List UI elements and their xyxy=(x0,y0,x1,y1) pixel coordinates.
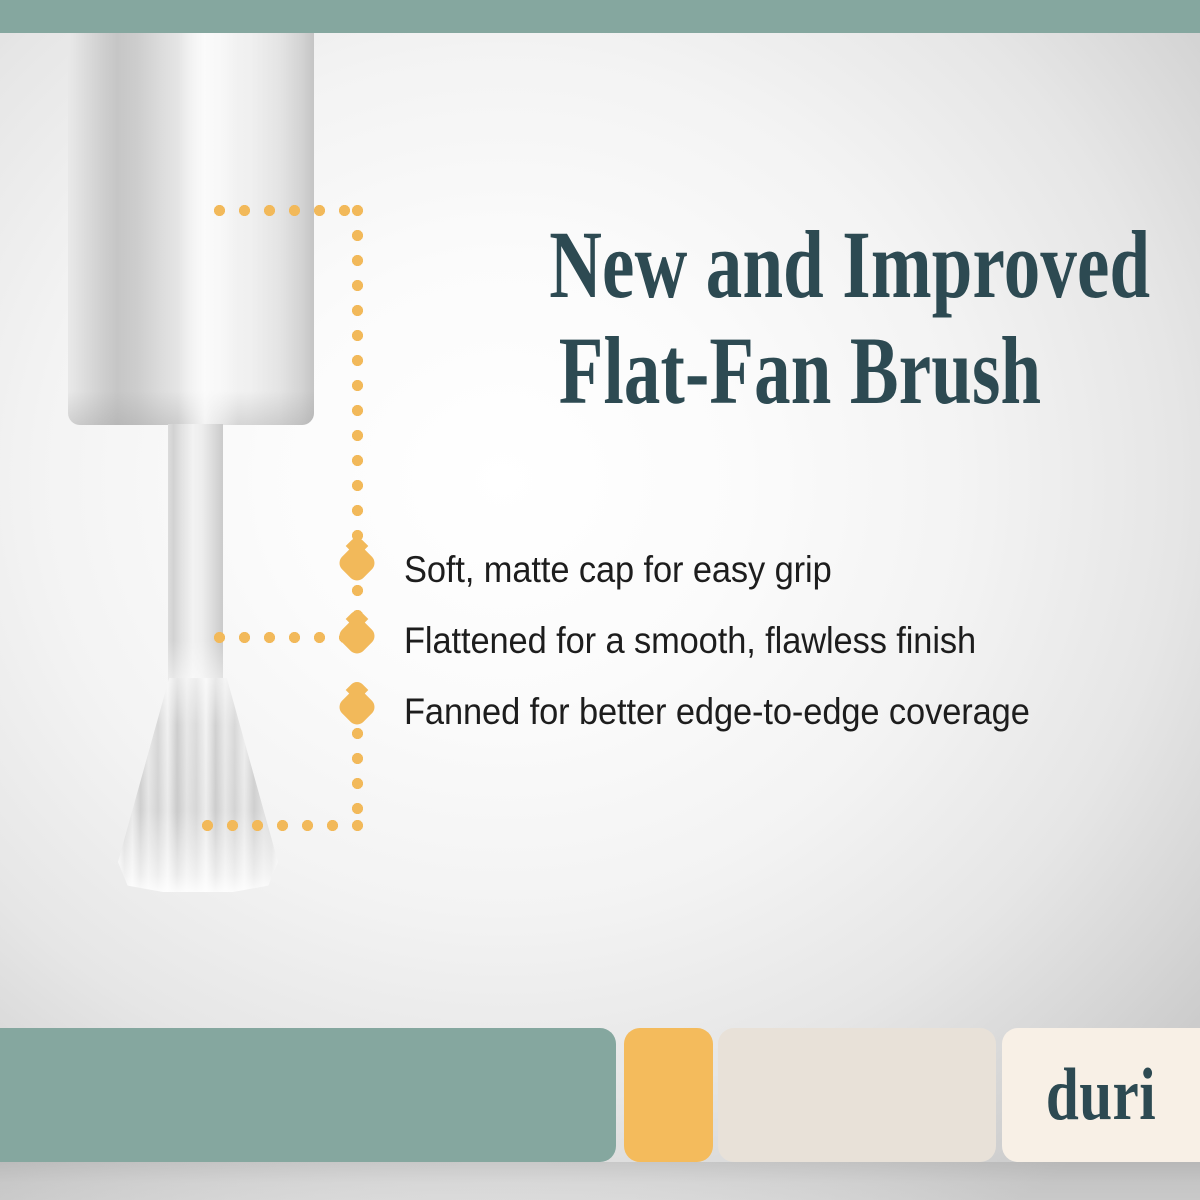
feature-text-1: Soft, matte cap for easy grip xyxy=(404,551,832,588)
footer-segment-sage xyxy=(0,1028,616,1162)
footer-drop-shadow xyxy=(0,1162,1200,1200)
flat-brush-stem-image xyxy=(168,424,223,686)
list-item: Flattened for a smooth, flawless finish xyxy=(404,605,1164,676)
product-photo xyxy=(0,0,420,960)
list-item: Fanned for better edge-to-edge coverage xyxy=(404,676,1164,747)
matte-cap-barrel-image xyxy=(68,33,314,425)
page-title: New and Improved Flat-Fan Brush xyxy=(549,212,1051,423)
fanned-bristles-image xyxy=(118,678,278,892)
headline-line-1: New and Improved xyxy=(549,212,1051,318)
footer-segment-amber xyxy=(624,1028,713,1162)
infographic-canvas: New and Improved Flat-Fan Brush Soft, ma… xyxy=(0,0,1200,1200)
list-item: Soft, matte cap for easy grip xyxy=(404,534,1164,605)
footer-segment-beige xyxy=(718,1028,996,1162)
footer-color-bar: duri xyxy=(0,1028,1200,1200)
brand-logo: duri xyxy=(1022,1028,1180,1162)
feature-list: Soft, matte cap for easy grip Flattened … xyxy=(404,534,1164,747)
headline-line-2: Flat-Fan Brush xyxy=(549,318,1051,424)
feature-text-2: Flattened for a smooth, flawless finish xyxy=(404,622,976,659)
feature-text-3: Fanned for better edge-to-edge coverage xyxy=(404,693,1030,730)
